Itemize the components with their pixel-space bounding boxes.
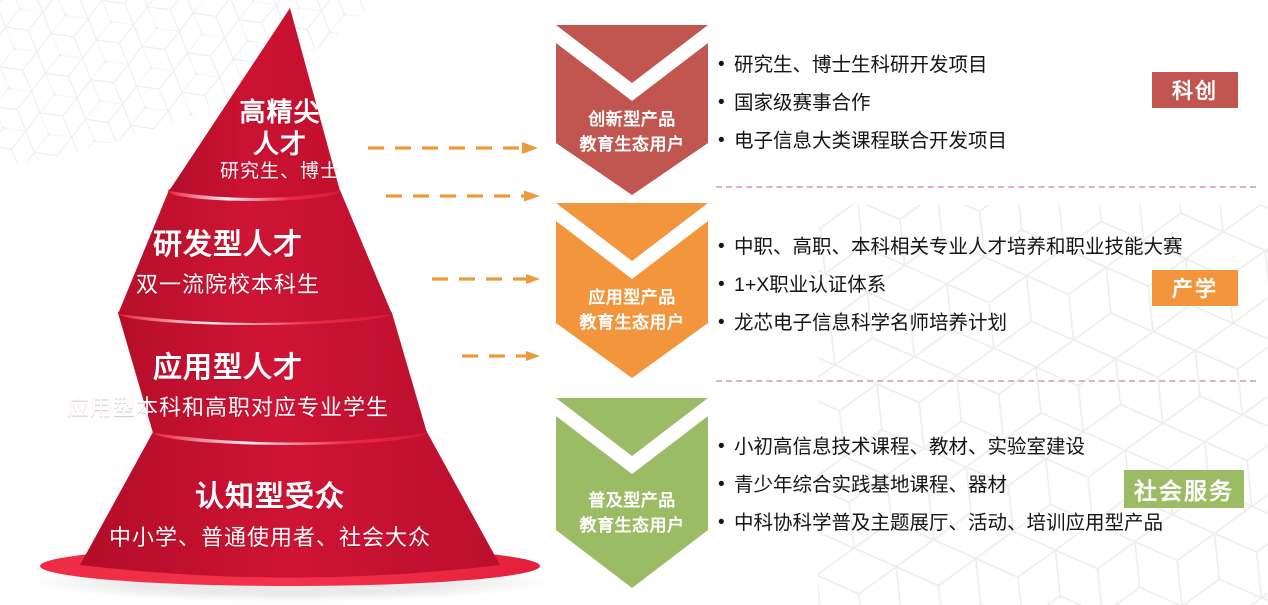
bullet-marker-icon: • xyxy=(718,304,734,342)
bullet-list-application: • 中职、高职、本科相关专业人才培养和职业技能大赛 • 1+X职业认证体系 • … xyxy=(718,228,1183,342)
list-item: • 中科协科学普及主题展厅、活动、培训应用型产品 xyxy=(718,504,1163,542)
chevron-popularization[interactable]: 普及型产品 教育生态用户 xyxy=(556,398,708,588)
chevron-application-label-line2: 教育生态用户 xyxy=(556,310,708,335)
list-item: • 龙芯电子信息科学名师培养计划 xyxy=(718,304,1183,342)
status-badge-innovation[interactable]: 科创 xyxy=(1152,72,1238,108)
bullet-text: 龙芯电子信息科学名师培养计划 xyxy=(734,304,1007,342)
connector-arrow-4 xyxy=(462,349,546,363)
bullet-text: 青少年综合实践基地课程、器材 xyxy=(734,466,1007,504)
section-divider-1 xyxy=(716,186,1256,188)
chevron-innovation-label-line1: 创新型产品 xyxy=(556,107,708,132)
connector-arrow-1 xyxy=(368,141,544,155)
bullet-marker-icon: • xyxy=(718,46,734,84)
status-badge-popularization[interactable]: 社会服务 xyxy=(1124,470,1244,508)
list-item: • 中职、高职、本科相关专业人才培养和职业技能大赛 xyxy=(718,228,1183,266)
bullet-text: 中科协科学普及主题展厅、活动、培训应用型产品 xyxy=(734,504,1163,542)
status-badge-popularization-label: 社会服务 xyxy=(1134,472,1234,506)
bullet-marker-icon: • xyxy=(718,122,734,160)
list-item: • 小初高信息技术课程、教材、实验室建设 xyxy=(718,428,1163,466)
bullet-marker-icon: • xyxy=(718,84,734,122)
list-item: • 研究生、博士生科研开发项目 xyxy=(718,46,1007,84)
pyramid-level-1-subtitle: 研究生、博士 xyxy=(0,156,560,183)
bullet-list-innovation: • 研究生、博士生科研开发项目 • 国家级赛事合作 • 电子信息大类课程联合开发… xyxy=(718,46,1007,160)
list-item: • 青少年综合实践基地课程、器材 xyxy=(718,466,1163,504)
chevron-application-label-line1: 应用型产品 xyxy=(556,285,708,310)
list-item: • 国家级赛事合作 xyxy=(718,84,1007,122)
bullet-text: 研究生、博士生科研开发项目 xyxy=(734,46,988,84)
pyramid-level-4-subtitle: 中小学、普通使用者、社会大众 xyxy=(0,520,550,552)
pyramid-level-3-title: 应用型人才 xyxy=(0,344,508,386)
bullet-marker-icon: • xyxy=(718,466,734,504)
bullet-marker-icon: • xyxy=(718,504,734,542)
bullet-text: 中职、高职、本科相关专业人才培养和职业技能大赛 xyxy=(734,228,1183,266)
bullet-text: 小初高信息技术课程、教材、实验室建设 xyxy=(734,428,1085,466)
status-badge-application[interactable]: 产学 xyxy=(1152,270,1238,306)
bullet-text: 电子信息大类课程联合开发项目 xyxy=(734,122,1007,160)
connector-arrow-2 xyxy=(386,189,546,203)
diagram-canvas: 高精尖 人才 研究生、博士 研发型人才 双一流院校本科生 应用型人才 应用型本科… xyxy=(0,0,1268,605)
bullet-list-popularization: • 小初高信息技术课程、教材、实验室建设 • 青少年综合实践基地课程、器材 • … xyxy=(718,428,1163,542)
pyramid-level-4-title: 认知型受众 xyxy=(0,473,550,515)
chevron-application[interactable]: 应用型产品 教育生态用户 xyxy=(556,203,708,378)
bullet-marker-icon: • xyxy=(718,266,734,304)
talent-pyramid: 高精尖 人才 研究生、博士 研发型人才 双一流院校本科生 应用型人才 应用型本科… xyxy=(0,0,560,605)
list-item: • 1+X职业认证体系 xyxy=(718,266,1183,304)
bullet-marker-icon: • xyxy=(718,228,734,266)
bullet-text: 1+X职业认证体系 xyxy=(734,266,886,304)
connector-arrow-3 xyxy=(432,272,546,286)
pyramid-level-3-subtitle: 应用型本科和高职对应专业学生 xyxy=(0,390,508,422)
section-divider-2 xyxy=(716,380,1256,382)
chevron-popularization-label-line2: 教育生态用户 xyxy=(556,513,708,538)
status-badge-application-label: 产学 xyxy=(1172,273,1218,303)
status-badge-innovation-label: 科创 xyxy=(1172,75,1218,105)
chevron-innovation-label-line2: 教育生态用户 xyxy=(556,132,708,157)
pyramid-level-2-title: 研发型人才 xyxy=(0,221,508,263)
bullet-marker-icon: • xyxy=(718,428,734,466)
list-item: • 电子信息大类课程联合开发项目 xyxy=(718,122,1007,160)
bullet-text: 国家级赛事合作 xyxy=(734,84,871,122)
chevron-popularization-label-line1: 普及型产品 xyxy=(556,488,708,513)
chevron-innovation[interactable]: 创新型产品 教育生态用户 xyxy=(556,25,708,195)
